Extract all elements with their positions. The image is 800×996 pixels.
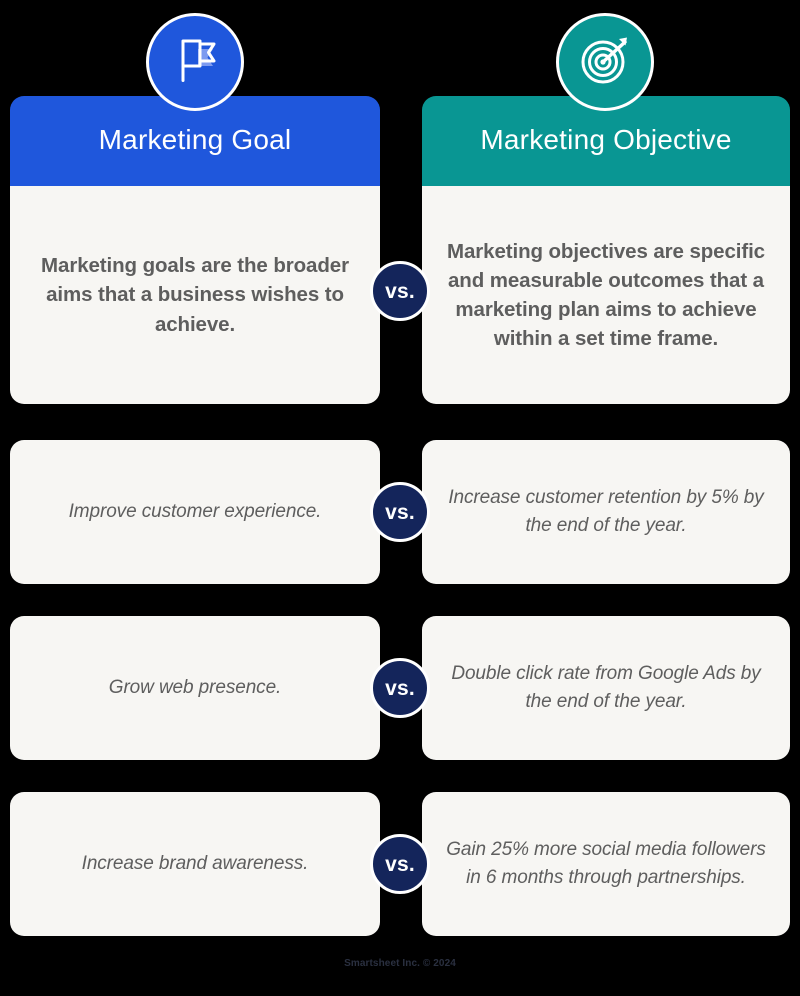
vs-badge-row-1: vs. (370, 261, 430, 321)
infographic-canvas: Marketing Goal Marketing Objective (0, 0, 800, 996)
vs-label-row-4: vs. (385, 854, 415, 875)
target-icon-badge (556, 13, 654, 111)
flag-icon (167, 32, 223, 93)
goal-card-row-1: Marketing goals are the broader aims tha… (10, 186, 380, 404)
objective-text-row-3: Double click rate from Google Ads by the… (444, 660, 768, 717)
objective-text-row-4: Gain 25% more social media followers in … (444, 836, 768, 893)
target-icon (576, 31, 634, 94)
vs-badge-row-2: vs. (370, 482, 430, 542)
goal-card-row-2: Improve customer experience. (10, 440, 380, 584)
objective-card-row-3: Double click rate from Google Ads by the… (422, 616, 790, 760)
objective-card-row-2: Increase customer retention by 5% by the… (422, 440, 790, 584)
flag-icon-badge (146, 13, 244, 111)
vs-badge-row-3: vs. (370, 658, 430, 718)
objective-text-row-2: Increase customer retention by 5% by the… (444, 484, 768, 541)
goal-text-row-1: Marketing goals are the broader aims tha… (32, 251, 358, 338)
objective-card-row-4: Gain 25% more social media followers in … (422, 792, 790, 936)
vs-label-row-1: vs. (385, 281, 415, 302)
goal-card-row-4: Increase brand awareness. (10, 792, 380, 936)
goal-text-row-4: Increase brand awareness. (32, 850, 358, 879)
vs-label-row-2: vs. (385, 502, 415, 523)
objective-card-row-1: Marketing objectives are specific and me… (422, 186, 790, 404)
goal-text-row-2: Improve customer experience. (32, 498, 358, 527)
column-title-goal: Marketing Goal (99, 126, 292, 156)
objective-text-row-1: Marketing objectives are specific and me… (444, 237, 768, 353)
vs-badge-row-4: vs. (370, 834, 430, 894)
goal-text-row-3: Grow web presence. (32, 674, 358, 703)
footer-credit: Smartsheet Inc. © 2024 (0, 958, 800, 969)
goal-card-row-3: Grow web presence. (10, 616, 380, 760)
column-title-objective: Marketing Objective (480, 126, 731, 156)
vs-label-row-3: vs. (385, 678, 415, 699)
